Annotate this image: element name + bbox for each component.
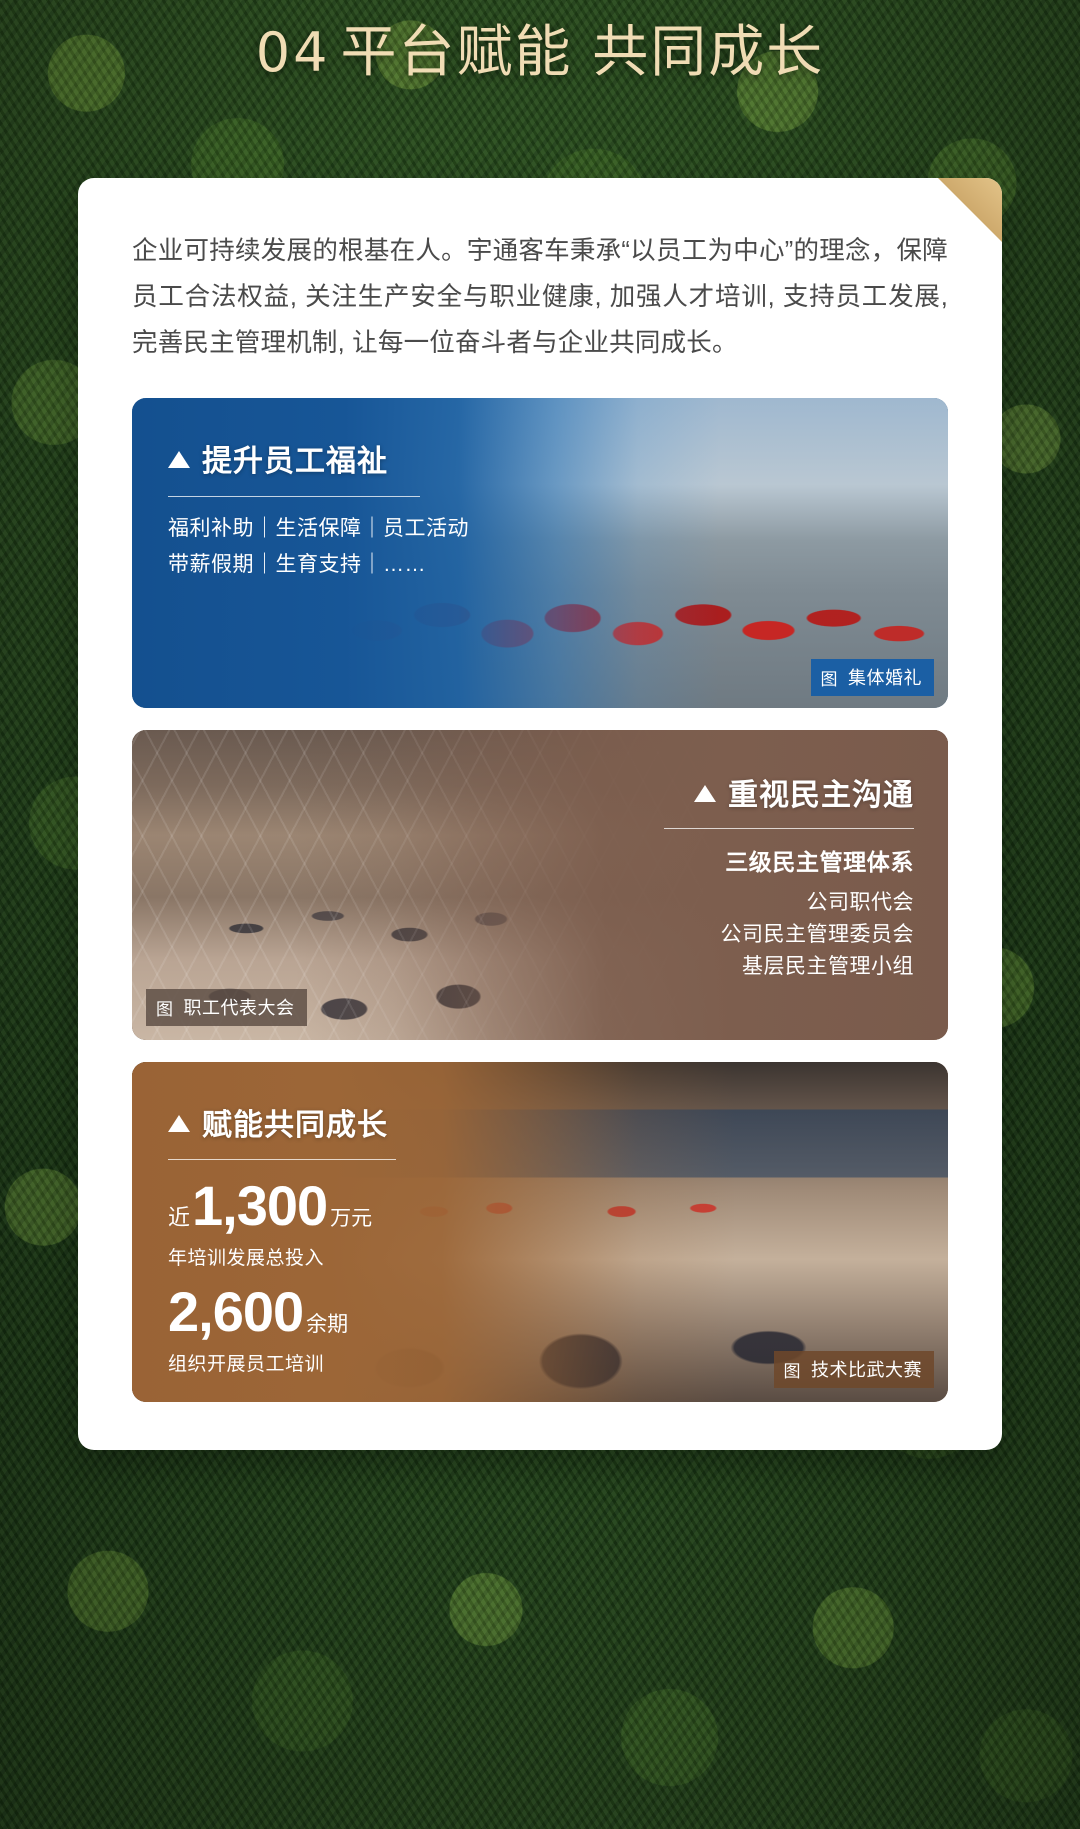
card1-title-row: 提升员工福祉 [168, 436, 948, 480]
card2-subtitle: 三级民主管理体系 [132, 843, 914, 877]
triangle-bullet-icon [168, 1115, 190, 1132]
card2-line-1: 公司职代会 [132, 887, 914, 919]
card3-divider [168, 1159, 396, 1160]
card3-caption-tag: 图 [784, 1357, 804, 1382]
card1-divider [168, 496, 420, 497]
triangle-bullet-icon [168, 451, 190, 468]
card1-caption-tag: 图 [821, 665, 841, 690]
content-panel: 企业可持续发展的根基在人。宇通客车秉承“以员工为中心”的理念，保障员工合法权益,… [78, 178, 1002, 1450]
page-title: 04平台赋能 共同成长 [256, 18, 825, 88]
card2-line-2: 公司民主管理委员会 [132, 919, 914, 951]
page-header: 04平台赋能 共同成长 [0, 18, 1080, 88]
card3-title-row: 赋能共同成长 [168, 1100, 948, 1144]
intro-paragraph: 企业可持续发展的根基在人。宇通客车秉承“以员工为中心”的理念，保障员工合法权益,… [132, 228, 948, 366]
card2-divider [664, 828, 914, 829]
stat2-number: 2,600 [168, 1284, 303, 1340]
stat-training-investment: 近 1,300 万元 年培训发展总投入 [168, 1178, 948, 1270]
stat1-label: 年培训发展总投入 [168, 1243, 948, 1270]
card-growth-enablement[interactable]: 赋能共同成长 近 1,300 万元 年培训发展总投入 2,600 余期 组织开展… [132, 1062, 948, 1402]
card2-line-3: 基层民主管理小组 [132, 951, 914, 983]
stat1-unit: 万元 [330, 1208, 372, 1229]
stat2-unit: 余期 [306, 1314, 348, 1335]
triangle-bullet-icon [694, 785, 716, 802]
card-employee-welfare[interactable]: 提升员工福祉 福利补助｜生活保障｜员工活动 带薪假期｜生育支持｜…… 图 集体婚… [132, 398, 948, 708]
card2-caption-text: 职工代表大会 [184, 994, 295, 1020]
card1-photo-caption: 图 集体婚礼 [811, 659, 935, 696]
stat1-number: 1,300 [192, 1178, 327, 1234]
card1-title: 提升员工福祉 [202, 436, 388, 480]
card1-caption-text: 集体婚礼 [848, 664, 922, 690]
stat1-prefix: 近 [168, 1207, 190, 1229]
card3-photo-caption: 图 技术比武大赛 [774, 1351, 935, 1388]
card-democratic-communication[interactable]: 重视民主沟通 三级民主管理体系 公司职代会 公司民主管理委员会 基层民主管理小组… [132, 730, 948, 1040]
card2-photo-caption: 图 职工代表大会 [146, 989, 307, 1026]
section-title-text: 平台赋能 共同成长 [340, 20, 824, 85]
card1-line-2: 带薪假期｜生育支持｜…… [168, 547, 948, 583]
card2-title-row: 重视民主沟通 [132, 770, 914, 814]
card2-caption-tag: 图 [156, 995, 176, 1020]
card1-line-1: 福利补助｜生活保障｜员工活动 [168, 511, 948, 547]
section-number: 04 [256, 21, 331, 84]
card3-title: 赋能共同成长 [202, 1100, 388, 1144]
card3-caption-text: 技术比武大赛 [811, 1356, 922, 1382]
card2-title: 重视民主沟通 [728, 770, 914, 814]
